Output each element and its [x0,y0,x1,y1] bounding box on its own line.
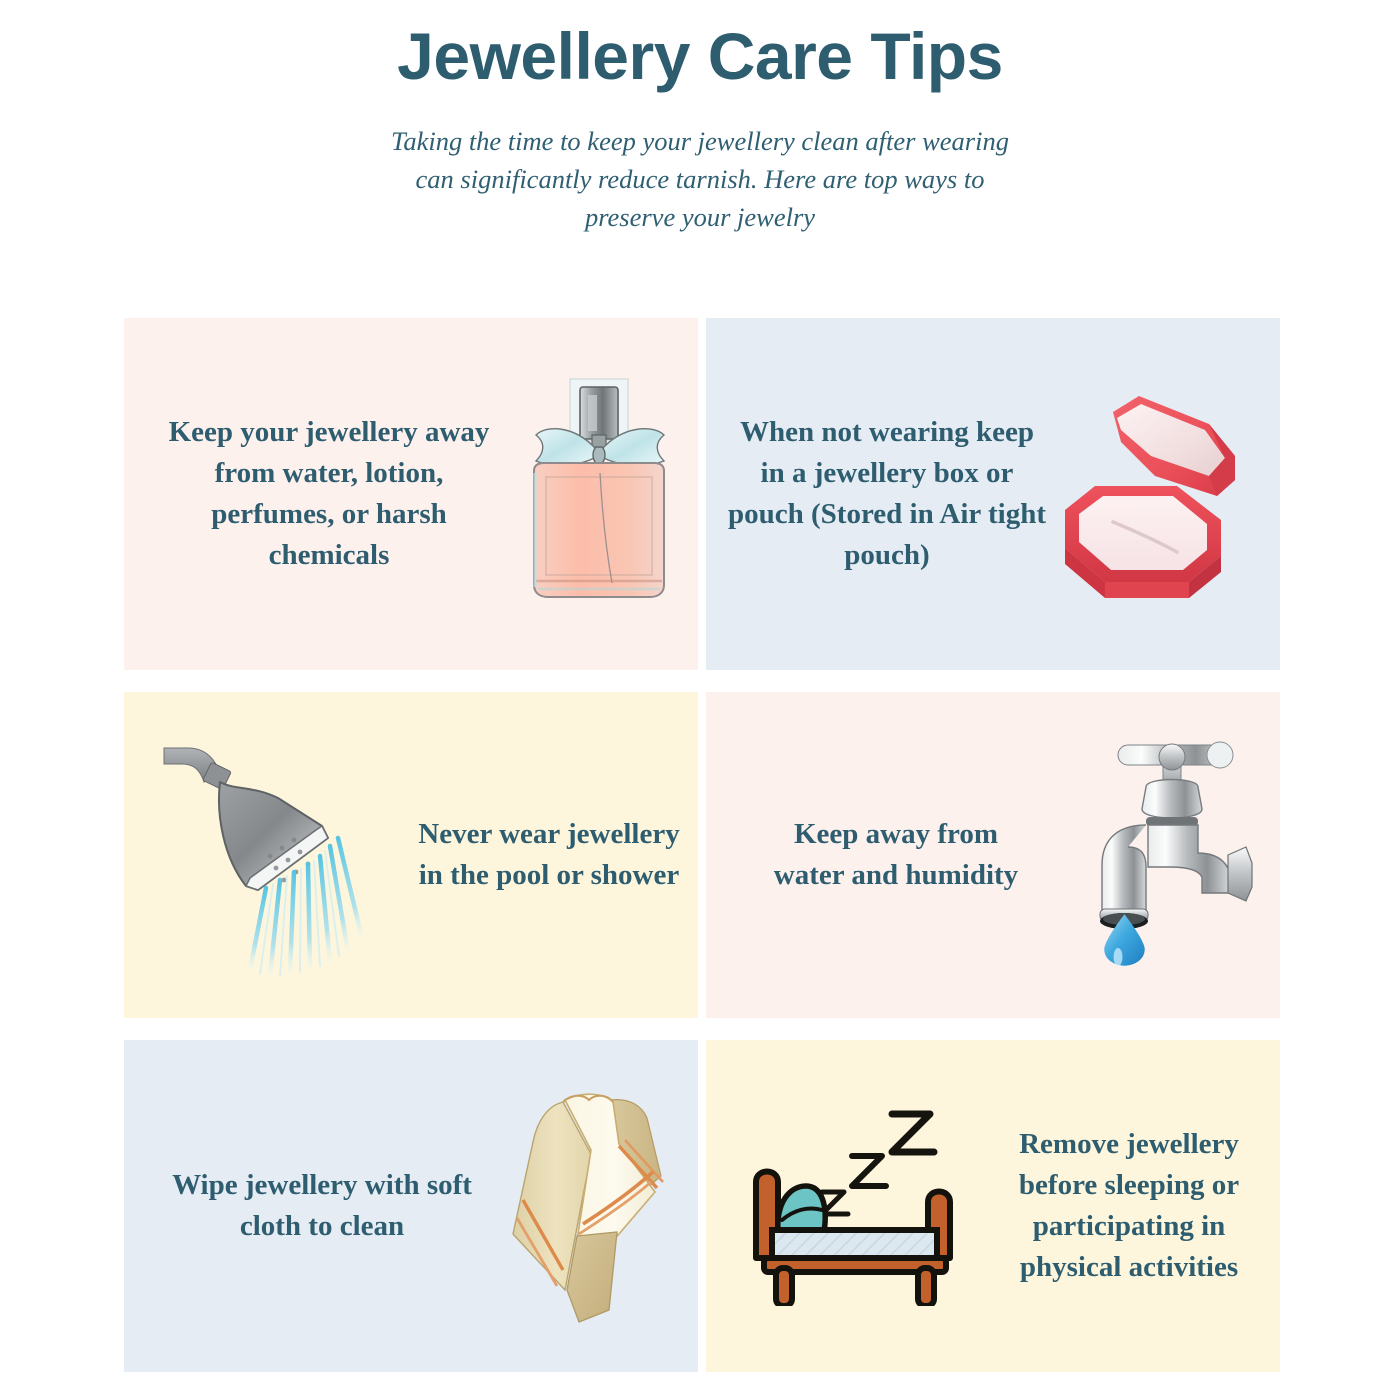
tip-card-6-text: Remove jewellery before sleeping or part… [994,1124,1264,1289]
infographic-page: Jewellery Care Tips Taking the time to k… [0,0,1400,1400]
page-header: Jewellery Care Tips Taking the time to k… [0,0,1400,236]
tip-card-4: Keep away from water and humidity [706,692,1280,1018]
tip-card-2-text: When not wearing keep in a jewellery box… [728,412,1046,577]
ring-box-icon [1054,384,1274,604]
tip-card-6: Remove jewellery before sleeping or part… [706,1040,1280,1372]
tip-card-4-text: Keep away from water and humidity [756,814,1036,896]
page-title: Jewellery Care Tips [0,22,1400,91]
tip-card-1: Keep your jewellery away from water, lot… [124,318,698,670]
tip-card-5: Wipe jewellery with soft cloth to clean [124,1040,698,1372]
faucet-icon [1066,733,1276,978]
page-subtitle: Taking the time to keep your jewellery c… [380,123,1020,236]
sleeping-bed-icon [734,1106,974,1306]
tip-card-3-text: Never wear jewellery in the pool or show… [404,814,694,896]
tip-card-2: When not wearing keep in a jewellery box… [706,318,1280,670]
shower-head-icon [148,730,398,980]
tips-grid: Keep your jewellery away from water, lot… [124,318,1276,1372]
tip-card-3: Never wear jewellery in the pool or show… [124,692,698,1018]
tip-card-5-text: Wipe jewellery with soft cloth to clean [172,1165,472,1247]
perfume-bottle-icon [498,369,698,619]
tip-card-1-text: Keep your jewellery away from water, lot… [164,412,494,577]
cloth-icon [494,1084,694,1329]
